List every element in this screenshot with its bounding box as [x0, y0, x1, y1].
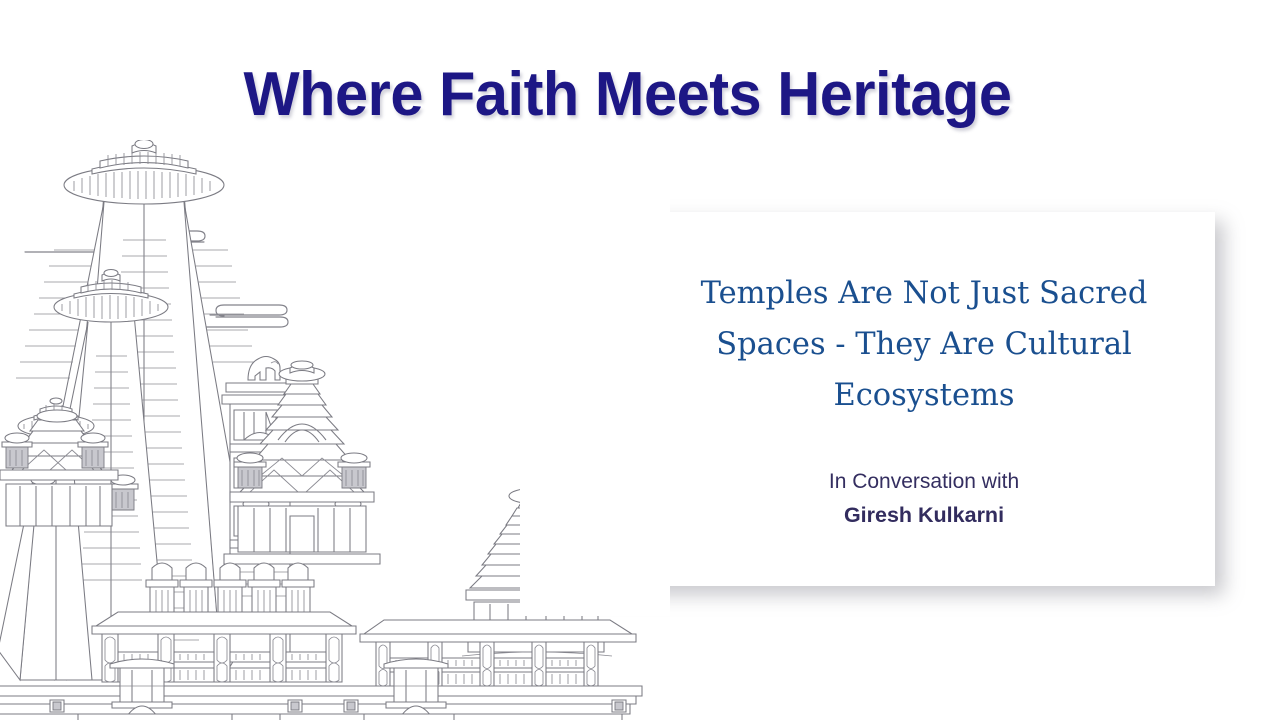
roof-corner-shrine-left	[234, 453, 266, 488]
roof-corner-shrine-right	[338, 453, 370, 488]
corner-kiosk-a	[2, 433, 32, 468]
main-finial	[64, 140, 224, 204]
page-title: Where Faith Meets Heritage	[13, 62, 1242, 128]
card-headline-line-2: Spaces - They Are Cultural	[663, 319, 1185, 370]
card-headline-line-1: Temples Are Not Just Sacred	[663, 268, 1185, 319]
speaker-name: Giresh Kulkarni	[663, 498, 1185, 532]
corner-kiosk-b	[78, 433, 108, 468]
conversation-label: In Conversation with	[663, 466, 1185, 498]
slide-canvas: Where Faith Meets Heritage Temples Are N…	[0, 0, 1280, 720]
card-headline-line-3: Ecosystems	[663, 370, 1185, 421]
lion-sculpture	[248, 357, 280, 381]
card-headline: Temples Are Not Just Sacred Spaces - The…	[663, 268, 1185, 421]
conversation-credit-block: In Conversation with Giresh Kulkarni	[663, 466, 1185, 532]
card-left-blend-mask	[520, 196, 670, 616]
